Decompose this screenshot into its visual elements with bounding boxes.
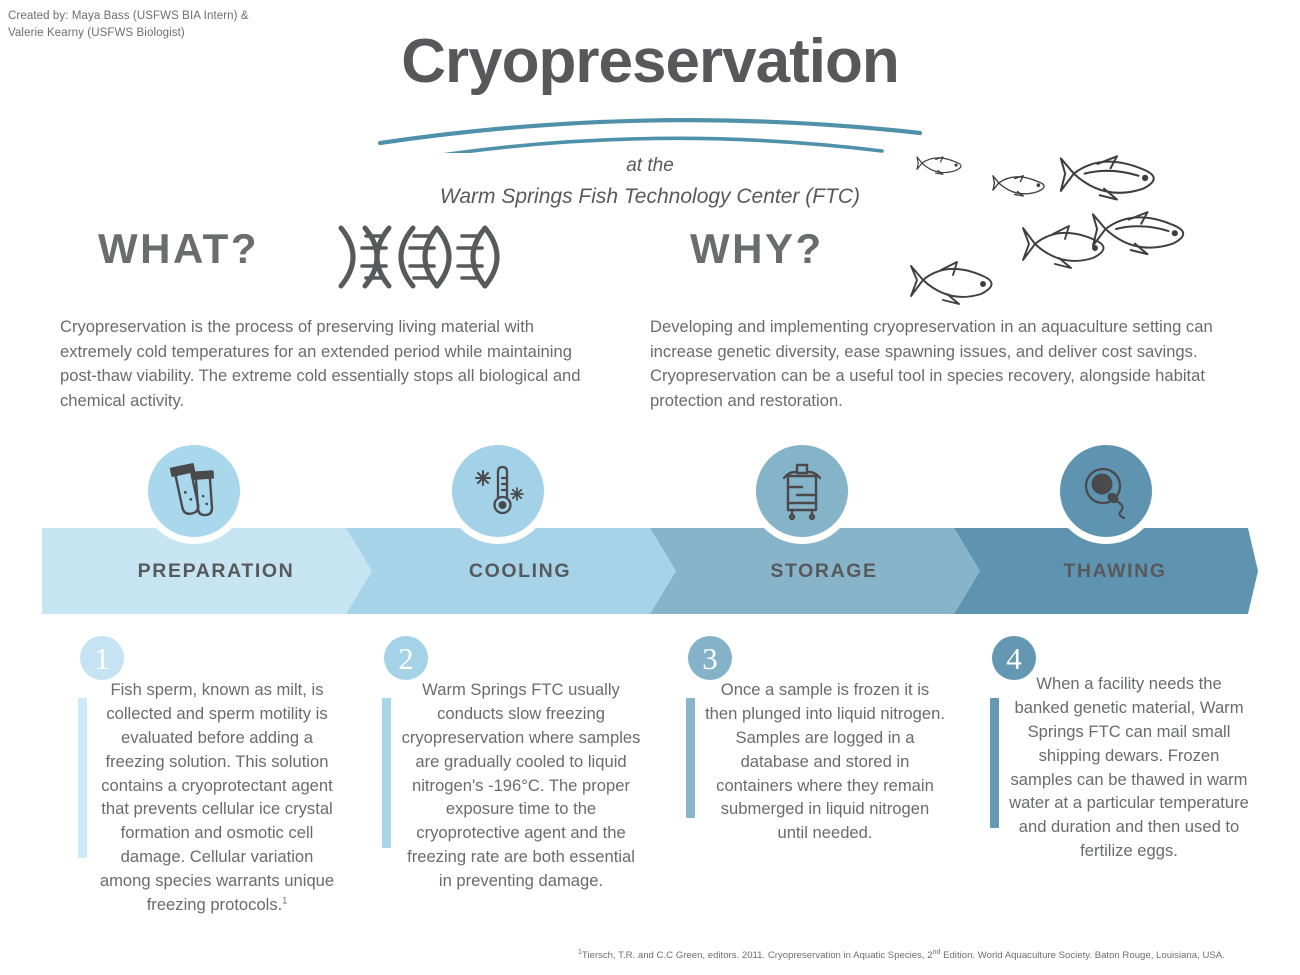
footnote-text: Tiersch, T.R. and C.C Green, editors. 20…	[582, 950, 933, 961]
credit-line-1: Created by: Maya Bass (USFWS BIA Intern)…	[8, 8, 338, 25]
step-number-3: 3	[688, 636, 732, 680]
dna-helix-icon	[335, 222, 510, 292]
chevron-cooling[interactable]: COOLING	[346, 528, 676, 614]
why-body-text: Developing and implementing cryopreserva…	[650, 315, 1250, 413]
chevron-label-thawing: THAWING	[954, 528, 1258, 614]
step-divider-bar-4	[990, 698, 999, 828]
title-arc-decoration	[370, 105, 930, 153]
step-divider-bar-1	[78, 698, 87, 858]
step-body-4: When a facility needs the banked genetic…	[1008, 672, 1250, 863]
test-tubes-icon	[167, 462, 221, 520]
step-number-2: 2	[384, 636, 428, 680]
chevron-label-storage: STORAGE	[650, 528, 980, 614]
chevron-storage[interactable]: STORAGE	[650, 528, 980, 614]
cryogenic-dewar-icon	[777, 462, 827, 520]
step-body-text-1: Fish sperm, known as milt, is collected …	[100, 680, 334, 914]
what-heading: WHAT?	[98, 225, 259, 273]
footnote-text-after: Edition. World Aquaculture Society. Bato…	[940, 950, 1224, 961]
chevron-preparation[interactable]: PREPARATION	[42, 528, 372, 614]
thermometer-snowflake-icon	[469, 462, 527, 520]
thermometer-snowflake-icon-circle	[452, 445, 544, 537]
step-divider-bar-2	[382, 698, 391, 848]
fish-school-icon	[895, 140, 1225, 310]
test-tubes-icon-circle	[148, 445, 240, 537]
sperm-egg-icon-circle	[1060, 445, 1152, 537]
process-chevron-bar: PREPARATION COOLING STORAGE THAWING	[42, 528, 1258, 614]
page-title: Cryopreservation	[0, 26, 1300, 97]
step-divider-bar-3	[686, 698, 695, 818]
infographic-canvas: Created by: Maya Bass (USFWS BIA Intern)…	[0, 0, 1300, 975]
step-body-3: Once a sample is frozen it is then plung…	[704, 678, 946, 845]
why-heading: WHY?	[690, 225, 824, 273]
footnote-citation: 1Tiersch, T.R. and C.C Green, editors. 2…	[578, 948, 1294, 963]
step-number-1: 1	[80, 636, 124, 680]
chevron-label-preparation: PREPARATION	[42, 528, 372, 614]
what-body-text: Cryopreservation is the process of prese…	[60, 315, 608, 413]
cryogenic-dewar-icon-circle	[756, 445, 848, 537]
step-footnote-marker-1: 1	[282, 895, 287, 905]
chevron-thawing[interactable]: THAWING	[954, 528, 1258, 614]
step-body-1: Fish sperm, known as milt, is collected …	[96, 678, 338, 917]
chevron-label-cooling: COOLING	[346, 528, 676, 614]
sperm-egg-icon	[1077, 462, 1135, 520]
step-body-2: Warm Springs FTC usually conducts slow f…	[400, 678, 642, 893]
